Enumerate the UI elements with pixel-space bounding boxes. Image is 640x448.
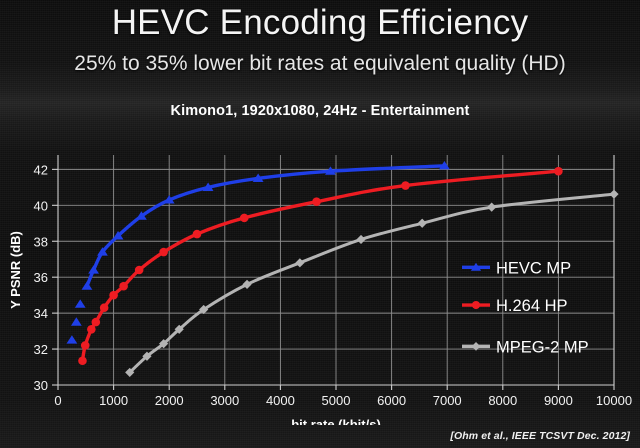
y-tick-label: 42 [34,162,48,177]
series-h-264-hp [78,167,563,365]
data-point-marker-circle [92,318,101,327]
data-point-marker-circle [87,325,96,334]
data-point-marker-diamond [295,258,304,267]
x-tick-label: 0 [54,393,61,408]
data-point-marker-triangle [82,281,93,289]
y-tick-label: 38 [34,234,48,249]
chart-title: Kimono1, 1920x1080, 24Hz - Entertainment [0,103,640,119]
x-tick-label: 6000 [377,393,406,408]
x-tick-label: 4000 [266,393,295,408]
data-point-marker-circle [401,181,410,190]
data-point-marker-diamond [356,235,365,244]
slide-subtitle: 25% to 35% lower bit rates at equivalent… [0,52,640,76]
y-tick-label: 34 [34,306,48,321]
slide-title: HEVC Encoding Efficiency [0,3,640,43]
data-point-marker-triangle [67,335,78,343]
data-point-marker-triangle [88,265,99,273]
y-tick-label: 36 [34,270,48,285]
data-point-marker-triangle [75,299,86,307]
data-point-marker-circle [193,230,202,239]
y-tick-label: 32 [34,342,48,357]
data-point-marker-circle [119,282,128,291]
data-point-marker-circle [159,248,168,257]
data-point-marker-circle [78,356,87,365]
data-point-marker-diamond [418,219,427,228]
data-point-marker-triangle [71,317,82,325]
x-tick-label: 7000 [433,393,462,408]
data-point-marker-circle [312,197,321,206]
chart-canvas: 0100020003000400050006000700080009000100… [0,125,640,425]
data-point-marker-circle [135,266,144,275]
legend-item-mpeg-2-mp[interactable]: MPEG-2 MP [462,338,589,356]
x-tick-label: 2000 [155,393,184,408]
x-tick-label: 8000 [488,393,517,408]
source-citation: [Ohm et al., IEEE TCSVT Dec. 2012] [450,430,630,442]
data-point-marker-circle [109,291,118,300]
x-tick-label: 9000 [544,393,573,408]
y-tick-label: 30 [34,378,48,393]
data-point-marker-diamond [487,203,496,212]
data-point-marker-circle [554,167,563,176]
data-point-marker-circle [100,303,109,312]
x-tick-label: 10000 [596,393,632,408]
data-point-marker-circle [472,301,480,309]
legend-item-hevc-mp[interactable]: HEVC MP [462,259,571,277]
data-point-marker-circle [81,341,90,350]
x-axis-title: bit rate (kbit/s) [291,417,381,425]
slide-root: HEVC Encoding Efficiency 25% to 35% lowe… [0,0,640,448]
data-point-marker-circle [240,214,249,223]
x-tick-label: 5000 [322,393,351,408]
y-axis-title: Y PSNR (dB) [8,231,23,309]
y-tick-label: 40 [34,198,48,213]
legend-label: H.264 HP [496,297,568,315]
x-tick-label: 1000 [99,393,128,408]
data-point-marker-diamond [609,190,618,199]
rate-distortion-chart: 0100020003000400050006000700080009000100… [0,125,640,425]
legend-label: MPEG-2 MP [496,338,589,356]
chart-legend: HEVC MPH.264 HPMPEG-2 MP [462,259,589,356]
legend-label: HEVC MP [496,259,571,277]
legend-item-h-264-hp[interactable]: H.264 HP [462,297,568,315]
x-tick-label: 3000 [210,393,239,408]
